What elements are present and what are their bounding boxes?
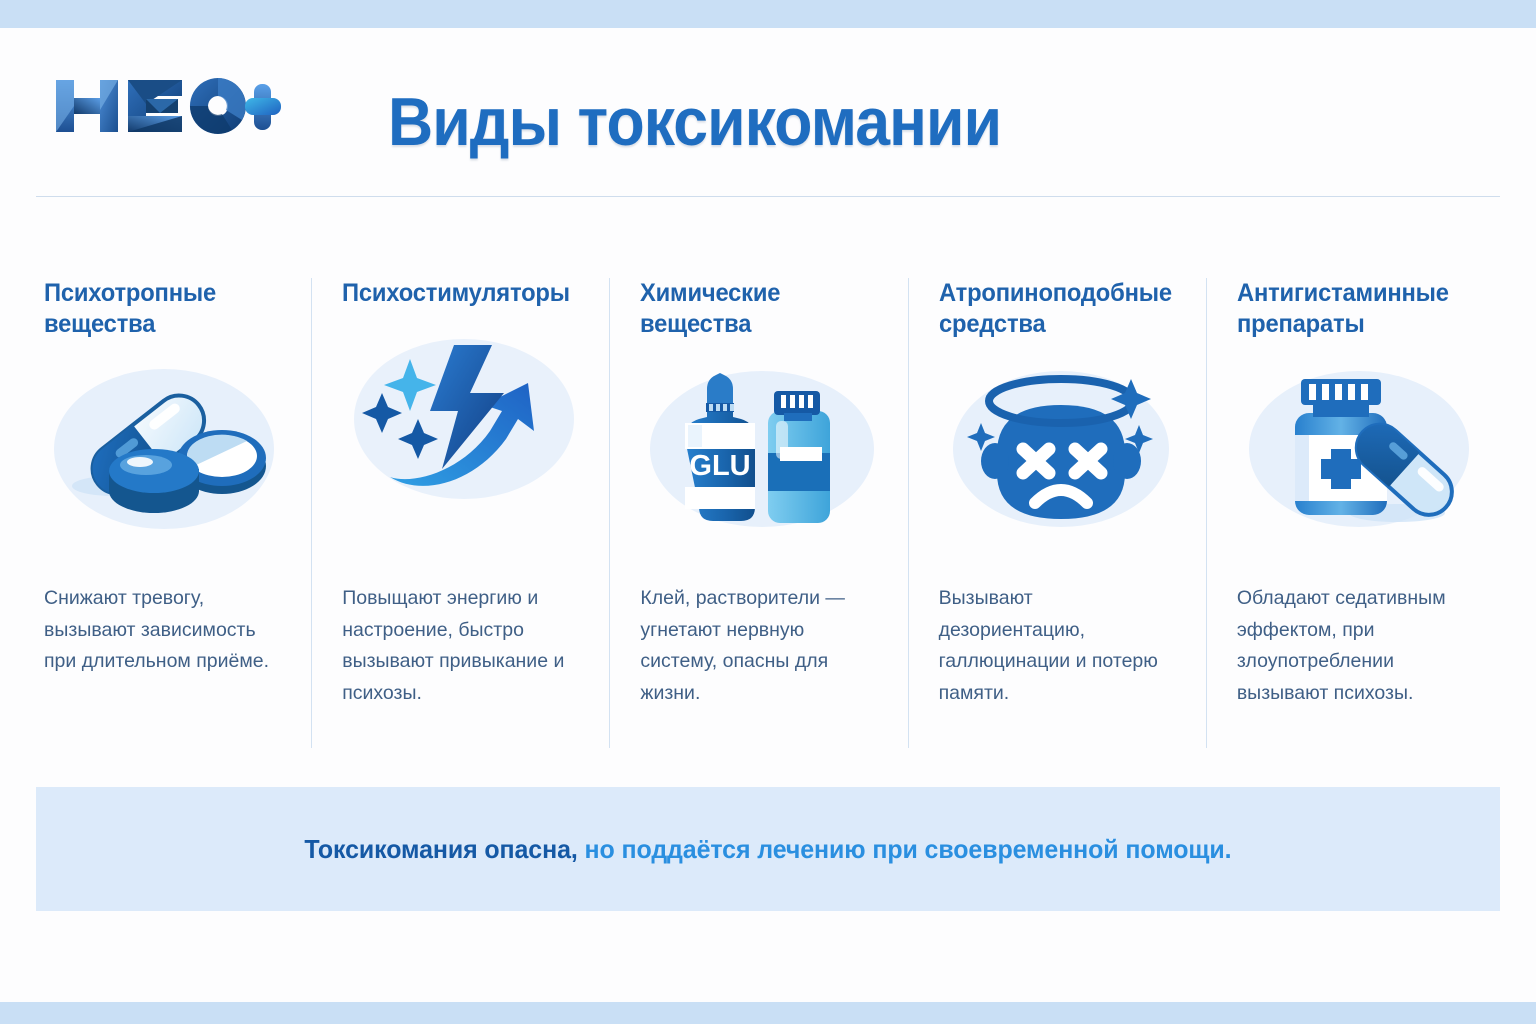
bottom-accent-band xyxy=(0,1002,1536,1024)
footer-banner: Токсикомания опасна, но поддаётся лечени… xyxy=(36,787,1500,911)
infographic-page: Виды токсикомании Психотропные вещества xyxy=(0,0,1536,1024)
pills-capsule-icon xyxy=(44,361,299,536)
banner-text: Токсикомания опасна, но поддаётся лечени… xyxy=(304,834,1231,865)
glue-solvent-bottles-icon: GLU xyxy=(640,361,895,536)
banner-strong-text: Токсикомания опасна, xyxy=(304,834,577,864)
column-chemicals: Химические вещества xyxy=(609,278,907,748)
column-title: Психотропные вещества xyxy=(44,278,277,339)
column-atropine: Атропиноподобные средства xyxy=(908,278,1206,748)
medicine-bottle-capsule-icon xyxy=(1237,361,1492,536)
dizzy-face-icon xyxy=(939,361,1194,536)
glue-label: GLU xyxy=(690,450,751,482)
neo-plus-logo xyxy=(48,70,288,142)
column-body: Обладают седативным эффектом, при злоупо… xyxy=(1237,583,1482,709)
lightning-bolt-arrow-icon xyxy=(342,331,597,506)
banner-light-text: но поддаётся лечению при своевременной п… xyxy=(578,834,1232,864)
column-antihistamines: Антигистаминные препараты xyxy=(1206,278,1504,748)
column-body: Повыщают энергию и настроение, быстро вы… xyxy=(342,583,587,709)
column-title: Антигистаминные препараты xyxy=(1237,278,1470,339)
header-divider xyxy=(36,196,1500,197)
page-title: Виды токсикомании xyxy=(388,83,1001,161)
category-columns: Психотропные вещества xyxy=(36,278,1504,748)
column-title: Химические вещества xyxy=(640,278,873,339)
column-title: Психостимуляторы xyxy=(342,278,575,309)
column-psychotropic: Психотропные вещества xyxy=(36,278,311,748)
column-stimulants: Психостимуляторы xyxy=(311,278,609,748)
column-body: Клей, растворители — угнетают нервную си… xyxy=(640,583,885,709)
column-body: Снижают тревогу, вызывают зависимость пр… xyxy=(44,583,289,678)
column-body: Вызывают дезориентацию, галлюцинации и п… xyxy=(939,583,1184,709)
header: Виды токсикомании xyxy=(0,28,1536,188)
top-accent-band xyxy=(0,0,1536,28)
column-title: Атропиноподобные средства xyxy=(939,278,1172,339)
